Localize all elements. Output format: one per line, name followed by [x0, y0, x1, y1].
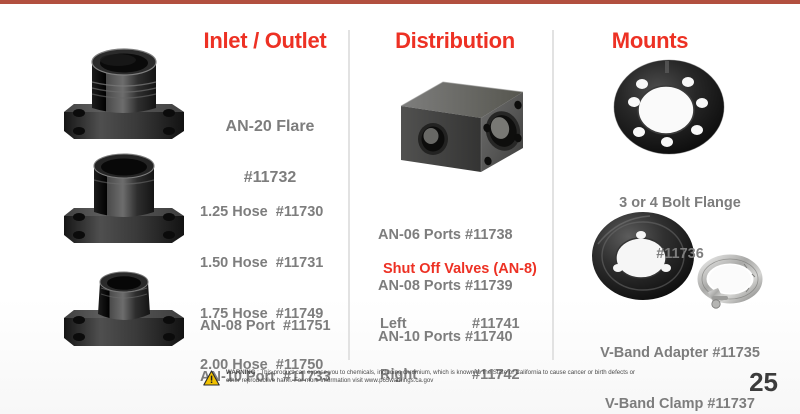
column-divider-right — [552, 30, 554, 360]
product-image-distribution-block — [383, 68, 538, 190]
spec-bolt-flange: 3 or 4 Bolt Flange #11736 — [580, 161, 780, 297]
column-heading-distribution: Distribution — [375, 28, 535, 54]
subheading-shut-off-valves: Shut Off Valves (AN-8) — [383, 261, 537, 277]
spec-line: 3 or 4 Bolt Flange — [580, 195, 780, 212]
prop65-warning: WARNING : This product can expose you to… — [203, 369, 643, 386]
column-heading-inlet-outlet: Inlet / Outlet — [185, 28, 345, 54]
spec-line: V-Band Adapter #11735 — [580, 345, 780, 362]
spec-vband: V-Band Adapter #11735 V-Band Clamp #1173… — [580, 311, 780, 414]
spec-line: 1.50 Hose #11731 — [200, 255, 323, 272]
spec-line: AN-06 Ports #11738 — [378, 227, 513, 244]
spec-shut-off-valves: Left #11741 Right #11742 Left Nitro #117… — [380, 282, 520, 414]
spec-line: #11736 — [580, 246, 780, 263]
product-image-an20-flare — [48, 38, 198, 150]
spec-line: AN-08 Port #11751 — [200, 318, 331, 335]
warning-body: This product can expose you to chemicals… — [226, 369, 635, 384]
spec-line: AN-20 Flare — [205, 118, 335, 135]
spec-line: V-Band Clamp #11737 — [580, 396, 780, 413]
spec-port-list: AN-08 Port #11751 AN-10 Port #11733 AN-1… — [200, 284, 331, 414]
product-image-hose-fitting — [48, 150, 198, 255]
valve-label: Left — [380, 316, 472, 333]
product-image-port-fitting — [48, 268, 198, 360]
page-top-accent-bar — [0, 0, 800, 4]
warning-text-block: WARNING : This product can expose you to… — [226, 369, 643, 385]
column-heading-mounts: Mounts — [570, 28, 730, 54]
warning-triangle-icon — [203, 370, 220, 386]
valve-part: #11741 — [472, 316, 520, 333]
product-image-bolt-flange — [608, 58, 730, 156]
page-number: 25 — [749, 367, 778, 398]
warning-label: WARNING — [226, 369, 255, 376]
valve-row: Left #11741 — [380, 316, 520, 333]
column-divider-left — [348, 30, 350, 360]
spec-line: 1.25 Hose #11730 — [200, 204, 323, 221]
catalog-page: Inlet / Outlet Distribution Mounts — [0, 0, 800, 414]
